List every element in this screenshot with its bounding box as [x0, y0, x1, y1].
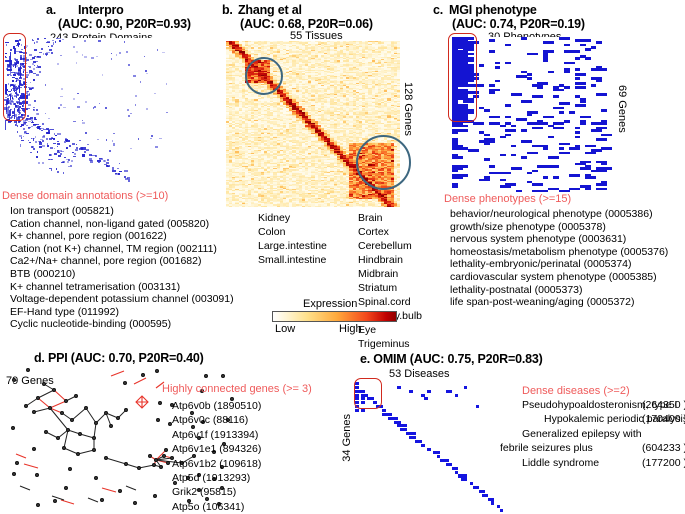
matrix-cell — [54, 153, 57, 155]
list-item: K+ channel tetramerisation (003131) — [10, 281, 234, 294]
matrix-cell — [15, 124, 16, 126]
matrix-cell — [109, 150, 111, 152]
matrix-cell — [40, 128, 42, 129]
matrix-cell — [32, 146, 34, 148]
matrix-cell — [42, 145, 45, 147]
matrix-cell — [57, 146, 58, 147]
panel-b-title: Zhang et al — [238, 3, 302, 17]
matrix-cell — [60, 153, 62, 155]
matrix-cell — [34, 42, 36, 44]
matrix-cell — [155, 146, 158, 148]
matrix-cell — [166, 112, 168, 113]
matrix-cell — [91, 57, 94, 58]
matrix-cell — [27, 115, 29, 116]
matrix-cell — [82, 122, 85, 124]
matrix-cell — [72, 152, 74, 153]
matrix-cell — [36, 61, 38, 62]
matrix-cell — [49, 159, 51, 160]
matrix-cell — [41, 130, 43, 131]
matrix-cell — [57, 63, 60, 64]
matrix-cell — [130, 113, 132, 115]
matrix-cell — [111, 53, 112, 54]
matrix-cell — [97, 139, 98, 141]
matrix-cell — [69, 145, 71, 147]
matrix-cell — [57, 133, 61, 135]
matrix-cell — [33, 68, 35, 69]
matrix-cell — [77, 93, 79, 94]
matrix-cell — [59, 40, 61, 42]
matrix-cell — [135, 104, 136, 106]
matrix-cell — [116, 54, 117, 55]
matrix-cell — [138, 138, 140, 140]
matrix-cell — [55, 41, 57, 43]
matrix-cell — [50, 147, 52, 149]
matrix-cell — [32, 88, 33, 90]
matrix-cell — [63, 172, 65, 174]
matrix-cell — [105, 107, 106, 109]
matrix-cell — [51, 52, 53, 54]
matrix-cell — [58, 38, 61, 39]
matrix-cell — [32, 63, 33, 65]
matrix-cell — [29, 93, 30, 95]
matrix-cell — [157, 49, 159, 51]
matrix-cell — [23, 136, 24, 137]
matrix-cell — [124, 170, 128, 172]
matrix-cell — [98, 162, 100, 163]
matrix-cell — [56, 38, 58, 39]
matrix-cell — [154, 93, 156, 94]
matrix-cell — [20, 144, 21, 146]
matrix-cell — [66, 140, 68, 142]
matrix-cell — [32, 39, 33, 40]
matrix-cell — [61, 88, 62, 90]
matrix-cell — [151, 135, 153, 136]
matrix-cell — [58, 107, 60, 108]
matrix-cell — [51, 169, 52, 171]
matrix-cell — [76, 51, 79, 52]
matrix-cell — [66, 159, 69, 160]
matrix-cell — [42, 162, 44, 163]
list-item: K+ channel, pore region (001622) — [10, 230, 234, 243]
matrix-cell — [90, 160, 92, 163]
list-item: BTB (000210) — [10, 268, 234, 281]
matrix-cell — [73, 121, 76, 122]
matrix-cell — [73, 156, 76, 157]
list-item: Ion transport (005821) — [10, 205, 234, 218]
list-item: Voltage-dependent potassium channel (003… — [10, 293, 234, 306]
matrix-cell — [79, 140, 81, 141]
matrix-cell — [37, 113, 40, 115]
matrix-cell — [34, 117, 36, 119]
panel-a-matrix — [4, 38, 204, 188]
matrix-cell — [128, 179, 130, 181]
matrix-cell — [29, 142, 32, 144]
matrix-cell — [32, 57, 35, 59]
matrix-cell — [26, 77, 27, 78]
matrix-cell — [38, 66, 41, 68]
panel-a-metrics: (AUC: 0.90, P20R=0.93) — [58, 17, 191, 31]
matrix-cell — [111, 58, 113, 60]
matrix-cell — [37, 65, 38, 67]
matrix-cell — [36, 127, 38, 129]
matrix-cell — [117, 168, 120, 169]
matrix-cell — [145, 70, 147, 72]
matrix-cell — [45, 84, 47, 86]
matrix-cell — [130, 148, 132, 149]
matrix-cell — [64, 141, 66, 143]
matrix-cell — [29, 66, 31, 68]
matrix-cell — [17, 125, 19, 127]
matrix-cell — [76, 144, 78, 145]
matrix-cell — [19, 135, 21, 137]
matrix-cell — [57, 152, 60, 153]
matrix-cell — [102, 74, 103, 76]
matrix-cell — [45, 113, 46, 114]
matrix-cell — [84, 56, 86, 58]
matrix-cell — [124, 176, 126, 178]
matrix-cell — [126, 51, 128, 53]
matrix-cell — [43, 135, 46, 137]
matrix-cell — [85, 101, 87, 103]
matrix-cell — [87, 144, 89, 145]
list-item: EF-Hand type (011992) — [10, 306, 234, 319]
list-item: Cation channel, non-ligand gated (005820… — [10, 218, 234, 231]
matrix-cell — [95, 155, 97, 157]
matrix-cell — [21, 140, 24, 142]
matrix-cell — [26, 133, 29, 135]
matrix-cell — [128, 64, 130, 66]
matrix-cell — [53, 138, 55, 140]
matrix-cell — [34, 65, 35, 67]
matrix-cell — [63, 161, 66, 163]
matrix-cell — [26, 118, 28, 119]
matrix-cell — [119, 171, 121, 172]
panel-a-title: Interpro — [78, 3, 124, 17]
matrix-cell — [48, 42, 49, 43]
matrix-cell — [31, 126, 33, 127]
matrix-cell — [63, 107, 66, 108]
matrix-cell — [140, 81, 141, 83]
matrix-cell — [74, 153, 76, 155]
matrix-cell — [20, 126, 22, 127]
matrix-cell — [76, 147, 78, 149]
matrix-cell — [99, 158, 103, 160]
matrix-cell — [57, 171, 59, 173]
matrix-cell — [98, 40, 100, 42]
matrix-cell — [104, 164, 107, 165]
matrix-cell — [113, 133, 115, 134]
matrix-cell — [85, 132, 87, 133]
matrix-cell — [146, 73, 148, 75]
matrix-cell — [45, 53, 48, 54]
matrix-cell — [28, 66, 29, 67]
matrix-cell — [53, 143, 55, 144]
matrix-cell — [44, 38, 46, 39]
matrix-cell — [64, 157, 66, 159]
matrix-cell — [30, 59, 32, 60]
matrix-cell — [127, 109, 129, 111]
matrix-cell — [82, 120, 83, 121]
panel-a-letter: a. — [46, 3, 56, 17]
matrix-cell — [41, 48, 43, 50]
matrix-cell — [73, 46, 76, 48]
matrix-cell — [60, 96, 63, 98]
matrix-cell — [28, 121, 30, 122]
matrix-cell — [150, 138, 152, 139]
matrix-cell — [144, 56, 145, 57]
panel-b-row-label: 128 Genes — [402, 82, 414, 136]
matrix-cell — [124, 41, 126, 43]
matrix-cell — [56, 168, 57, 169]
matrix-cell — [128, 115, 131, 117]
matrix-cell — [67, 161, 69, 162]
matrix-cell — [39, 141, 41, 143]
matrix-cell — [34, 49, 37, 51]
matrix-cell — [73, 98, 75, 100]
matrix-cell — [135, 95, 137, 97]
matrix-cell — [35, 141, 37, 142]
matrix-cell — [23, 128, 26, 129]
matrix-cell — [57, 141, 59, 142]
matrix-cell — [81, 147, 85, 149]
panel-a-list-header: Dense domain annotations (>=10) — [2, 190, 168, 203]
matrix-cell — [26, 61, 27, 62]
matrix-cell — [48, 46, 49, 47]
matrix-cell — [113, 143, 114, 145]
matrix-cell — [119, 163, 120, 164]
matrix-cell — [30, 152, 32, 153]
matrix-cell — [50, 129, 53, 131]
list-item: Ca2+/Na+ channel, pore region (001682) — [10, 255, 234, 268]
matrix-cell — [33, 79, 35, 81]
matrix-cell — [28, 127, 31, 128]
matrix-cell — [38, 162, 40, 163]
matrix-cell — [84, 151, 86, 153]
matrix-cell — [29, 73, 31, 74]
matrix-cell — [34, 100, 37, 102]
matrix-cell — [162, 52, 165, 53]
matrix-cell — [37, 151, 38, 153]
panel-a-letter-text: a. — [46, 3, 56, 17]
matrix-cell — [82, 154, 85, 156]
panel-b-letter: b. — [222, 3, 233, 17]
matrix-cell — [28, 104, 31, 106]
matrix-cell — [62, 39, 64, 41]
matrix-cell — [106, 139, 107, 141]
matrix-cell — [94, 106, 96, 108]
list-item: Cation (not K+) channel, TM region (0021… — [10, 243, 234, 256]
matrix-cell — [112, 140, 113, 142]
matrix-cell — [49, 154, 52, 155]
panel-a-highlight-box — [3, 33, 26, 121]
matrix-cell — [47, 145, 49, 146]
matrix-cell — [119, 52, 121, 53]
matrix-cell — [76, 62, 78, 64]
matrix-cell — [39, 71, 41, 73]
matrix-cell — [57, 143, 60, 145]
matrix-cell — [60, 55, 62, 56]
matrix-cell — [146, 108, 148, 109]
panel-b-metrics: (AUC: 0.68, P20R=0.06) — [240, 17, 373, 31]
matrix-cell — [71, 160, 73, 162]
matrix-cell — [99, 103, 100, 104]
matrix-cell — [70, 165, 72, 167]
matrix-cell — [84, 40, 87, 41]
matrix-cell — [133, 75, 136, 77]
matrix-cell — [27, 91, 29, 93]
matrix-cell — [52, 40, 54, 41]
matrix-cell — [108, 165, 110, 167]
matrix-cell — [33, 109, 35, 111]
matrix-cell — [51, 45, 53, 47]
matrix-cell — [86, 149, 89, 151]
matrix-cell — [48, 118, 50, 119]
matrix-cell — [118, 173, 120, 175]
matrix-cell — [60, 104, 62, 106]
matrix-cell — [24, 123, 26, 125]
matrix-cell — [17, 131, 18, 132]
matrix-cell — [36, 109, 38, 110]
matrix-cell — [33, 138, 35, 140]
matrix-cell — [48, 132, 50, 134]
matrix-cell — [166, 83, 167, 84]
matrix-cell — [58, 150, 61, 152]
matrix-cell — [77, 106, 80, 108]
matrix-cell — [107, 159, 108, 161]
matrix-cell — [53, 42, 54, 44]
matrix-cell — [37, 56, 39, 57]
matrix-cell — [31, 71, 32, 72]
list-item: Cyclic nucleotide-binding (000595) — [10, 318, 234, 331]
matrix-cell — [5, 120, 6, 130]
matrix-cell — [36, 74, 39, 76]
matrix-cell — [54, 148, 55, 149]
matrix-cell — [19, 121, 21, 122]
matrix-cell — [37, 124, 39, 126]
matrix-cell — [58, 155, 61, 157]
matrix-cell — [39, 52, 41, 53]
matrix-cell — [68, 166, 70, 167]
matrix-cell — [46, 42, 48, 43]
matrix-cell — [30, 82, 31, 83]
matrix-cell — [159, 138, 161, 139]
matrix-cell — [28, 108, 29, 109]
matrix-cell — [96, 56, 98, 58]
matrix-cell — [42, 123, 44, 125]
matrix-cell — [37, 38, 39, 40]
matrix-cell — [33, 148, 36, 150]
matrix-cell — [35, 136, 36, 138]
panel-a-list: Ion transport (005821)Cation channel, no… — [10, 205, 234, 331]
matrix-cell — [82, 54, 83, 56]
matrix-cell — [55, 135, 57, 136]
matrix-cell — [36, 156, 38, 158]
matrix-cell — [112, 170, 116, 171]
matrix-cell — [36, 41, 39, 43]
matrix-cell — [66, 147, 68, 149]
matrix-cell — [46, 138, 48, 140]
matrix-cell — [29, 54, 32, 56]
